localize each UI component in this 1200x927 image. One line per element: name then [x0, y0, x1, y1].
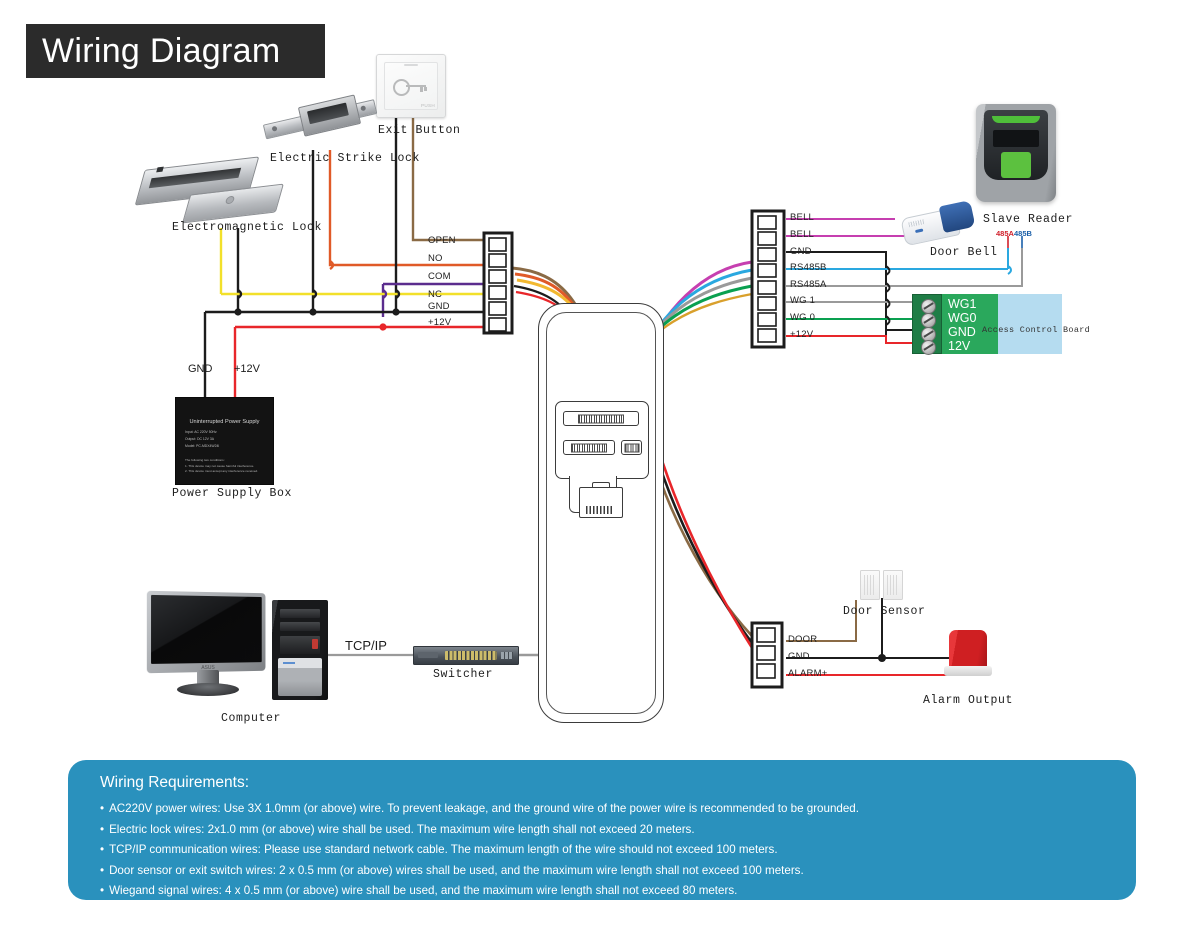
alarm-output-label: Alarm Output	[923, 694, 1013, 707]
requirement-text: TCP/IP communication wires: Please use s…	[109, 843, 777, 856]
alarm-base	[944, 666, 992, 676]
bottom-terminal-label-door: DOOR	[788, 634, 817, 645]
requirement-text: AC220V power wires: Use 3X 1.0mm (or abo…	[109, 802, 859, 815]
bullet-icon: •	[100, 884, 104, 897]
requirement-item: •TCP/IP communication wires: Please use …	[100, 840, 1106, 861]
requirement-text: Electric lock wires: 2x1.0 mm (or above)…	[109, 823, 695, 836]
bullet-icon: •	[100, 843, 104, 856]
requirement-item: •Wiegand signal wires: 4 x 0.5 mm (or ab…	[100, 881, 1106, 902]
wiring-requirements-panel: Wiring Requirements: •AC220V power wires…	[68, 760, 1136, 900]
alarm-output-device	[944, 630, 992, 678]
requirement-item: •AC220V power wires: Use 3X 1.0mm (or ab…	[100, 799, 1106, 820]
bottom-terminal-label-alarm: ALARM+	[788, 668, 827, 679]
requirement-text: Door sensor or exit switch wires: 2 x 0.…	[109, 864, 804, 877]
alarm-dome	[949, 630, 987, 668]
bullet-icon: •	[100, 823, 104, 836]
requirement-item: •Door sensor or exit switch wires: 2 x 0…	[100, 861, 1106, 882]
diagram-canvas: Wiring Diagram PUSH Exit Button Electric…	[0, 0, 1200, 927]
requirement-text: Wiegand signal wires: 4 x 0.5 mm (or abo…	[109, 884, 737, 897]
bullet-icon: •	[100, 802, 104, 815]
requirement-item: •Electric lock wires: 2x1.0 mm (or above…	[100, 820, 1106, 841]
bullet-icon: •	[100, 864, 104, 877]
bottom-terminal-label-gnd: GND	[788, 651, 810, 662]
requirements-title: Wiring Requirements:	[100, 774, 1106, 792]
